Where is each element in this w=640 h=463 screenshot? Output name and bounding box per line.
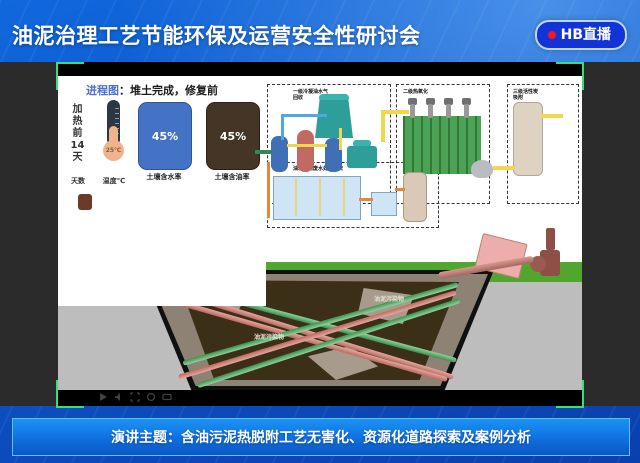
pipe-orange-h1 (359, 198, 373, 201)
oxidizer-pipe-1-icon (410, 104, 415, 118)
thermometer-bulb: 25℃ (103, 140, 124, 161)
rig-right-body-icon (474, 233, 527, 279)
progress-title: 进程图：堆土完成，修复前 (86, 82, 218, 98)
heating-note: 加热前14天 (70, 104, 85, 164)
pipe-yellow-h1 (287, 144, 327, 147)
live-badge-label: HB直播 (561, 28, 611, 42)
activated-carbon-vessel-icon (513, 102, 543, 176)
settings-icon[interactable] (146, 392, 156, 402)
stage-3-label: 三级活性炭 吸附 (513, 89, 538, 101)
pipe-yellow-to-carbon (493, 166, 515, 170)
metric-label-water: 土壤含水率 (134, 172, 194, 182)
pit-label-left: 油泥污染物 (254, 332, 284, 341)
info-panel: 进程图：堆土完成，修复前 加热前14天 25℃ 天数 温度℃ 4 (58, 76, 266, 306)
live-dot-icon (548, 31, 556, 39)
play-icon[interactable] (98, 392, 108, 402)
frame-bracket-top-left (56, 62, 84, 90)
progress-separator: ： (119, 84, 130, 97)
thermometer-value: 25℃ (106, 148, 122, 154)
pipe-orange-v1 (267, 162, 270, 218)
water-separation-tank-icon (273, 176, 361, 220)
thermometer-icon: 25℃ (103, 100, 124, 164)
oxidizer-pipe-3-icon (446, 104, 451, 118)
video-viewport: 进程图：堆土完成，修复前 加热前14天 25℃ 天数 温度℃ 4 (58, 62, 582, 406)
thermal-desorption-rig-right (438, 230, 578, 282)
video-player[interactable]: 进程图：堆土完成，修复前 加热前14天 25℃ 天数 温度℃ 4 (0, 62, 640, 406)
blower-icon (471, 160, 493, 178)
page-title: 油泥治理工艺节能环保及运营安全性研讨会 (12, 20, 421, 50)
metric-bar-oil: 45% (206, 102, 260, 170)
live-badge[interactable]: HB直播 (535, 20, 627, 50)
separator-tank-icon (297, 130, 314, 172)
pit-label-right: 油泥污染物 (374, 294, 404, 303)
storage-vessel-icon (403, 172, 427, 222)
volume-icon[interactable] (114, 392, 124, 402)
frame-bracket-top-right (556, 62, 584, 90)
fullscreen-icon[interactable] (130, 392, 140, 402)
thermal-oxidizer-icon (403, 116, 481, 174)
process-diagram: 一级冷凝油水气 回收 二级热氧化 三级活性炭 吸附 油水分离废水处理系统 (263, 80, 582, 228)
progress-value: 堆土完成，修复前 (130, 84, 218, 97)
tank-baffle-3-icon (343, 178, 345, 216)
cooling-tower-icon (315, 100, 353, 138)
tank-baffle-2-icon (319, 178, 321, 216)
pipe-orange-h2 (395, 188, 405, 191)
pipe-yellow-to-oxidizer (381, 110, 409, 114)
topic-banner-text: 演讲主题：含油污泥热脱附工艺无害化、资源化道路探索及案例分析 (111, 427, 531, 447)
oxidizer-pipe-4-icon (464, 104, 469, 118)
condenser-tank-icon (271, 136, 288, 172)
app-root: 油泥治理工艺节能环保及运营安全性研讨会 HB直播 进程图：堆土完成，修复前 加热… (0, 0, 640, 463)
metric-label-oil: 土壤含油率 (202, 172, 262, 182)
progress-label: 进程图 (86, 84, 119, 97)
frame-bracket-bottom-right (556, 380, 584, 408)
barrel-icon (78, 194, 92, 210)
pump-icon (347, 146, 377, 168)
tank-baffle-1-icon (295, 178, 297, 216)
slide-canvas: 进程图：堆土完成，修复前 加热前14天 25℃ 天数 温度℃ 4 (58, 76, 582, 390)
rig-right-stack-icon (546, 228, 555, 250)
header: 油泥治理工艺节能环保及运营安全性研讨会 HB直播 (0, 0, 640, 62)
temperature-axis-label: 温度℃ (99, 176, 129, 186)
pipe-yellow-riser (381, 110, 385, 142)
pipe-yellow-v1 (339, 128, 342, 150)
metric-value-oil: 45% (220, 130, 246, 143)
pipe-blue-v1 (281, 114, 284, 140)
stage-2-label: 二级热氧化 (403, 89, 428, 95)
topic-banner: 演讲主题：含油污泥热脱附工艺无害化、资源化道路探索及案例分析 (12, 418, 630, 456)
days-axis-label: 天数 (70, 176, 86, 186)
oxidizer-pipe-2-icon (428, 104, 433, 118)
filter-unit-icon (371, 192, 397, 216)
pipe-green-in (255, 150, 271, 154)
metric-bar-water: 45% (138, 102, 192, 170)
frame-bracket-bottom-left (56, 380, 84, 408)
quality-icon[interactable] (162, 392, 172, 402)
pipe-blue-h1 (281, 114, 327, 117)
pipe-yellow-carbon-out (541, 114, 563, 118)
player-controls[interactable] (58, 388, 582, 406)
metric-value-water: 45% (152, 130, 178, 143)
